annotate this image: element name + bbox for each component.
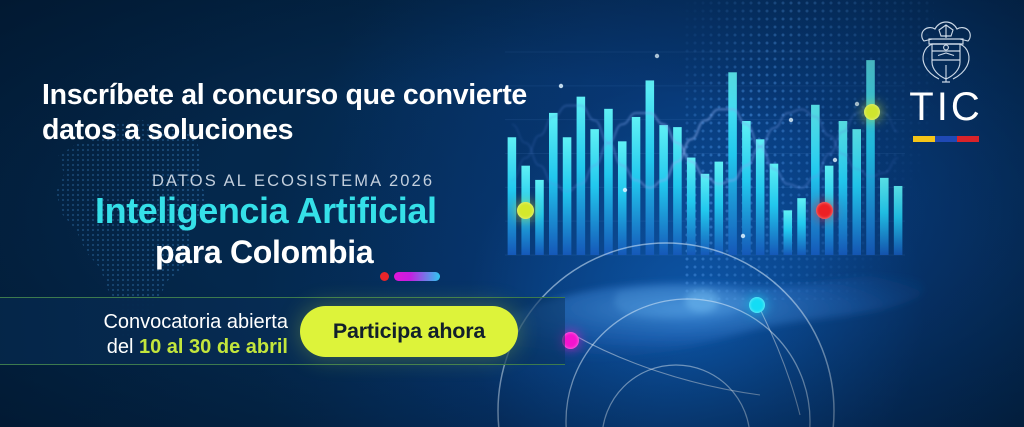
participate-button[interactable]: Participa ahora xyxy=(300,306,518,357)
node-cyan xyxy=(749,297,765,313)
cta-caption-dates: 10 al 30 xyxy=(139,336,211,358)
colombia-flag-icon xyxy=(890,136,1002,142)
accent-dot-icon xyxy=(380,272,389,281)
node-red xyxy=(816,202,833,219)
cta-caption-line-1: Convocatoria abierta xyxy=(103,311,288,333)
headline-line-1: Inscríbete al concurso que convierte xyxy=(42,79,527,111)
kicker-text: DATOS AL ECOSISTEMA 2026 xyxy=(152,172,434,191)
accent-marks xyxy=(380,272,440,281)
title-primary: Inteligencia Artificial xyxy=(95,192,437,231)
flag-stripe-red xyxy=(957,136,979,142)
node-lime-right xyxy=(864,104,880,120)
cta-caption-month: de abril xyxy=(211,336,288,358)
promo-banner: Inscríbete al concurso que convierte dat… xyxy=(0,0,1024,427)
cta-caption-del: del xyxy=(107,336,139,358)
logo-tic-text: TIC xyxy=(890,87,1002,127)
node-lime-left xyxy=(517,202,534,219)
flag-stripe-blue xyxy=(935,136,957,142)
flag-stripe-yellow xyxy=(913,136,935,142)
cta-caption: Convocatoria abierta del 10 al 30 de abr… xyxy=(78,310,288,360)
headline: Inscríbete al concurso que convierte dat… xyxy=(42,78,542,149)
mintic-logo: TIC xyxy=(890,18,1002,142)
colombia-coat-of-arms-icon xyxy=(915,18,977,84)
title-secondary: para Colombia xyxy=(155,235,373,270)
headline-line-2: datos a soluciones xyxy=(42,113,542,148)
accent-gradient-bar-icon xyxy=(394,272,440,281)
